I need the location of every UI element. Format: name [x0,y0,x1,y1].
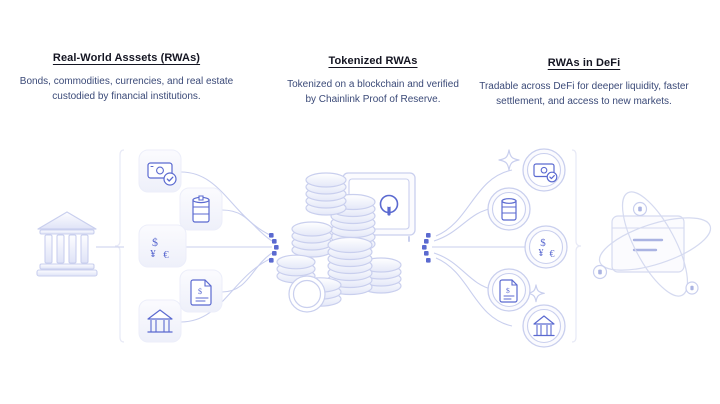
infographic: Real-World Asssets (RWAs) Bonds, commodi… [0,0,720,404]
defi-network-window-icon [0,0,720,404]
